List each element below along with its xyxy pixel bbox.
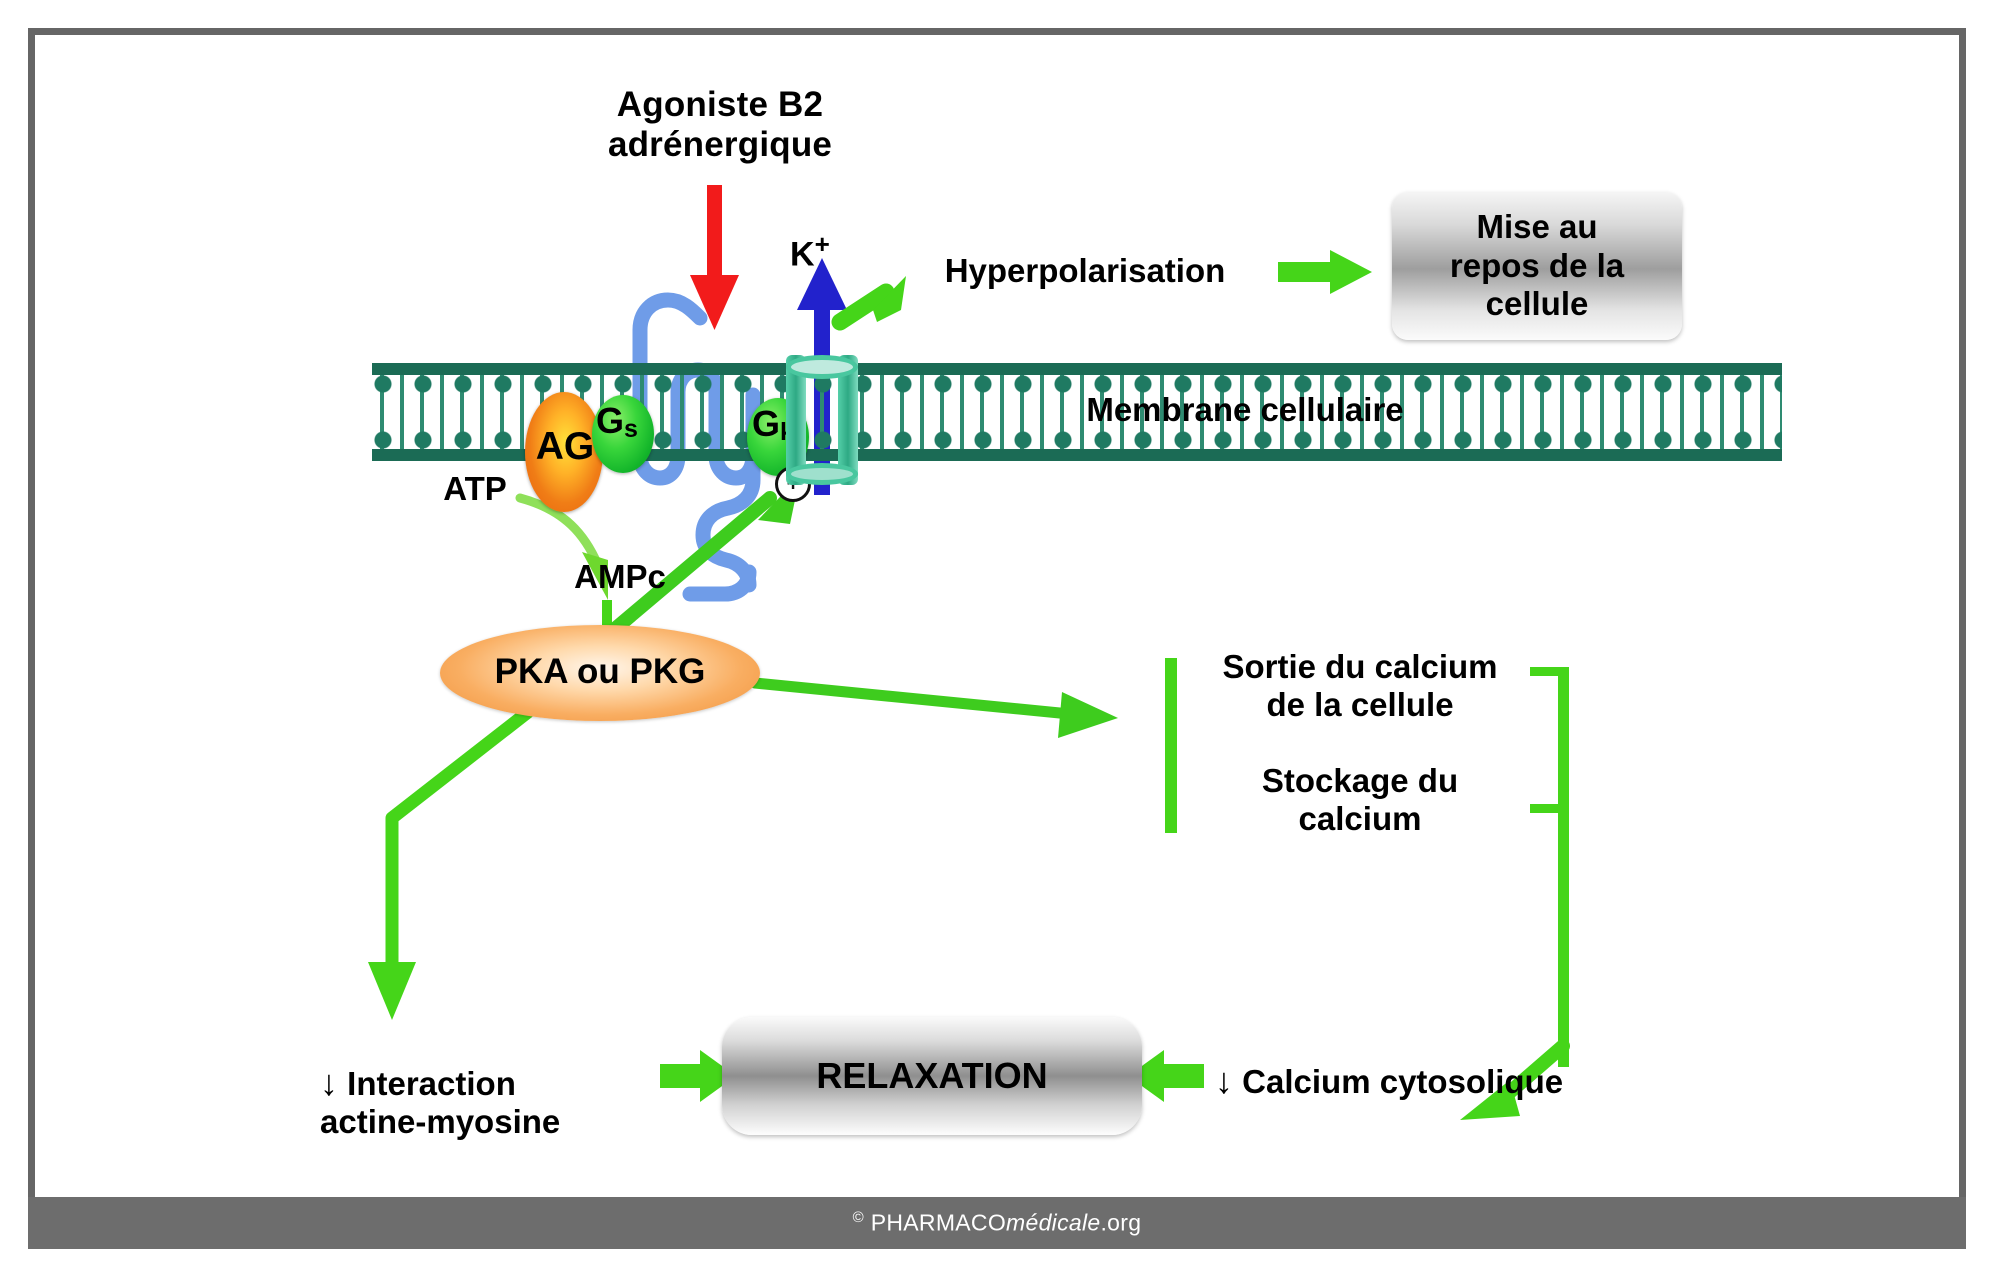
cytosolic-calcium-label: ↓ Calcium cytosolique [1215, 1060, 1605, 1101]
potassium-symbol: K [790, 235, 815, 273]
copyright-text: © PHARMACOmédicale.org [853, 1209, 1142, 1237]
gs-main-letter: G [596, 400, 624, 441]
relaxation-box: RELAXATION [722, 1017, 1142, 1135]
cell-at-rest-box: Mise au repos de la cellule [1392, 192, 1682, 340]
brand-suffix: .org [1100, 1210, 1141, 1236]
channel-bottom-rim [786, 463, 858, 485]
calcium-storage-label: Stockage du calcium [1215, 762, 1505, 838]
adenylate-cyclase-label: AG [530, 425, 600, 469]
cytosolic-calcium-text: Calcium cytosolique [1242, 1063, 1563, 1100]
hyperpolarisation-label: Hyperpolarisation [915, 252, 1255, 290]
membrane-caption: Membrane cellulaire [1060, 391, 1430, 429]
gs-subscript: s [624, 415, 638, 443]
calcium-efflux-label: Sortie du calcium de la cellule [1195, 648, 1525, 724]
potassium-ion-label: K+ [790, 230, 860, 274]
footer-bar: © PHARMACOmédicale.org [28, 1197, 1966, 1249]
agonist-title: Agoniste B2 adrénergique [560, 85, 880, 166]
decrease-arrow-icon: ↓ [320, 1062, 338, 1103]
g-protein-gs-label: Gs [596, 400, 638, 444]
channel-top-rim [786, 355, 858, 379]
brand-prefix: PHARMACO [871, 1210, 1006, 1236]
actin-myosin-label: ↓ Interaction actine-myosine [320, 1062, 640, 1141]
copyright-symbol: © [853, 1209, 864, 1226]
decrease-arrow-icon: ↓ [1215, 1060, 1233, 1101]
atp-label: ATP [420, 470, 530, 508]
actin-myosin-text: Interaction actine-myosine [320, 1065, 560, 1140]
gk-main-letter: G [752, 403, 780, 444]
brand-italic: médicale [1006, 1210, 1100, 1236]
potassium-charge: + [815, 229, 830, 259]
pka-pkg-label: PKA ou PKG [440, 652, 760, 692]
ampc-label: AMPc [555, 558, 685, 596]
potassium-channel-icon [786, 355, 858, 485]
